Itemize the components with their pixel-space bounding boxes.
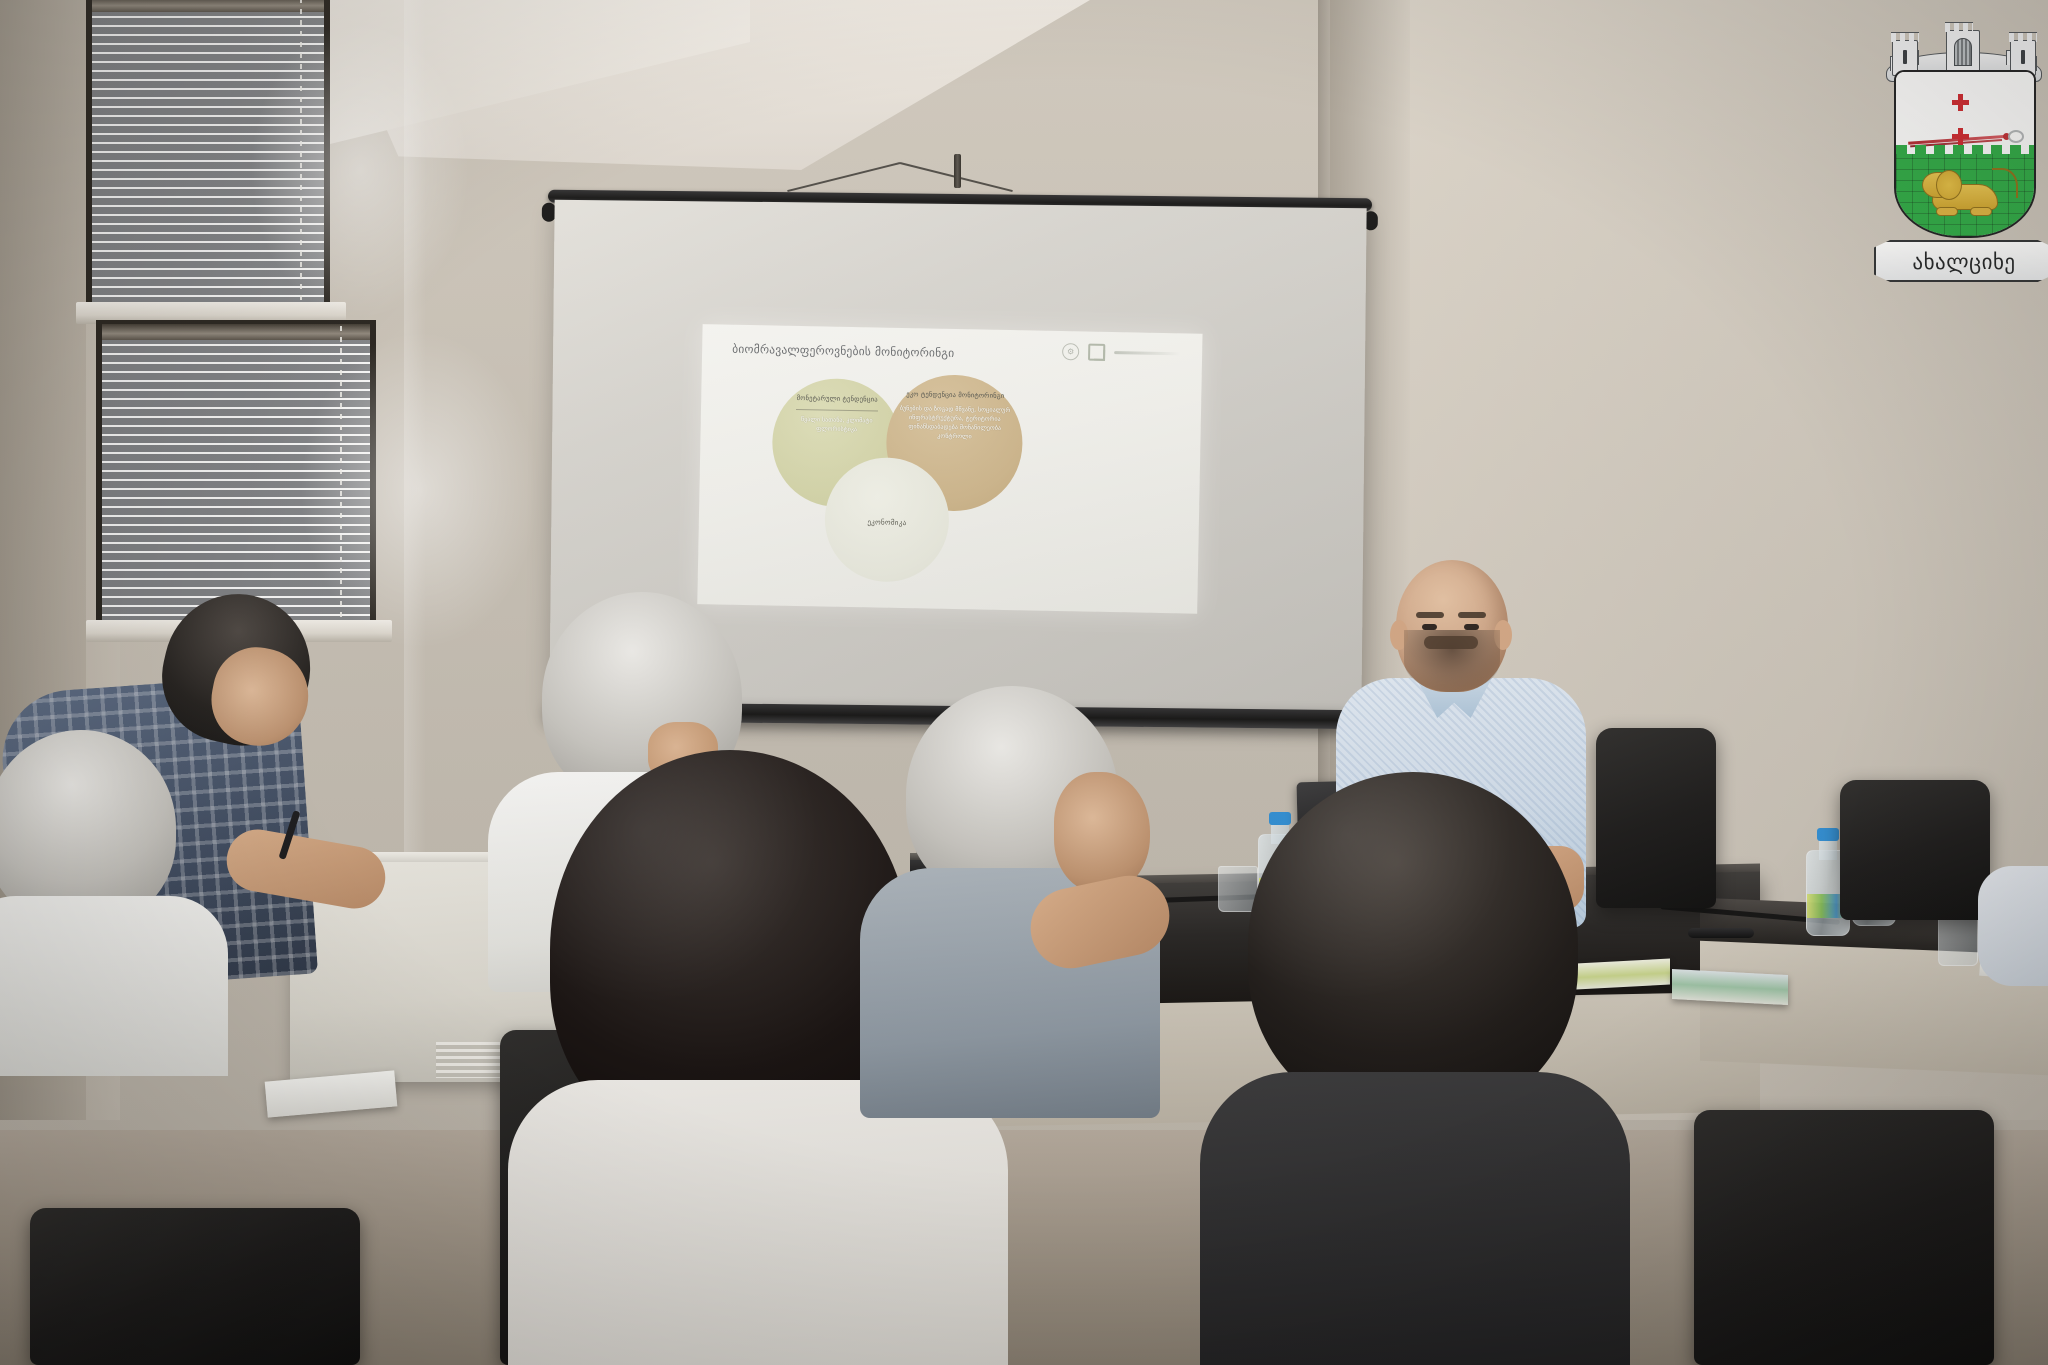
window-blinds[interactable]	[102, 326, 370, 620]
lion-icon	[1922, 168, 2014, 218]
circle-tan-heading: ეკო ტენდენცია მონიტორინგი	[906, 390, 1004, 401]
remote-control[interactable]	[1688, 928, 1754, 938]
attendee-curly-hair-torso	[508, 1080, 1008, 1365]
window-left-lower	[96, 320, 376, 626]
coat-of-arms-banner: ახალციხე	[1874, 230, 2048, 290]
attendee-grey-polo-hand	[1054, 772, 1150, 892]
chair-right[interactable]	[1694, 1110, 1994, 1365]
attendee-far-right-arm	[1978, 866, 2048, 986]
blinds-cord[interactable]	[340, 326, 342, 620]
chair-front-left[interactable]	[30, 1208, 360, 1365]
crenellated-wall	[1896, 145, 2034, 154]
slide-circle-white: ეკონომიკა	[824, 457, 950, 583]
shield	[1894, 70, 2036, 238]
circle-tan-body: ბუნების და ზოგად მწვანე, სოციალურ ინფრას…	[897, 403, 1012, 442]
chair-far-right[interactable]	[1840, 780, 1990, 920]
akhaltsikhe-coat-of-arms: ახალციხე	[1880, 8, 2048, 308]
cross-icon	[1952, 94, 1969, 111]
conference-room-photo: ბიომრავალფეროვნების მონიტორინგი ⚙ მონეტა…	[0, 0, 2048, 1365]
circle-olive-body: წყალი სათანა, კლიმატი ფლორისტიკა	[783, 414, 891, 434]
presenter-brow	[1458, 612, 1486, 618]
circle-white-body: ეკონომიკა	[867, 517, 906, 527]
handout-stack-2[interactable]	[1672, 969, 1788, 1005]
attendee-grey-front-left	[0, 730, 240, 1060]
blinds-cord[interactable]	[300, 0, 302, 304]
circle-olive-heading: მონეტარული ტენდენცია	[797, 394, 878, 405]
presenter-moustache	[1424, 636, 1478, 649]
attendee-dark-hair-right-torso	[1200, 1072, 1630, 1365]
wordmark-logo-icon	[1114, 351, 1180, 355]
window-left-upper	[86, 0, 330, 310]
attendee-grey-front-left-shirt	[0, 896, 228, 1076]
attendee-grey-polo	[884, 686, 1214, 1116]
bracket-logo-icon	[1088, 344, 1105, 361]
blinds-headrail	[102, 324, 370, 340]
blinds-headrail	[92, 0, 324, 12]
window-blinds[interactable]	[92, 0, 324, 304]
attendee-dark-hair-right	[1214, 772, 1634, 1365]
screen-hanger-post	[954, 154, 961, 188]
cross-icon	[1952, 128, 1969, 145]
projected-slide: ბიომრავალფეროვნების მონიტორინგი ⚙ მონეტა…	[697, 324, 1202, 614]
slide-logos: ⚙	[1062, 343, 1180, 362]
banner-text: ახალციხე	[1874, 250, 2048, 274]
drinking-glass[interactable]	[1938, 912, 1978, 966]
slide-title: ბიომრავალფეროვნების მონიტორინგი	[732, 342, 1082, 363]
badge-logo-icon: ⚙	[1062, 343, 1079, 360]
circle-olive-divider	[796, 408, 878, 411]
presenter-brow	[1416, 612, 1444, 618]
attendee-dark-hair-right-head	[1248, 772, 1578, 1120]
wall-seam	[404, 0, 426, 900]
